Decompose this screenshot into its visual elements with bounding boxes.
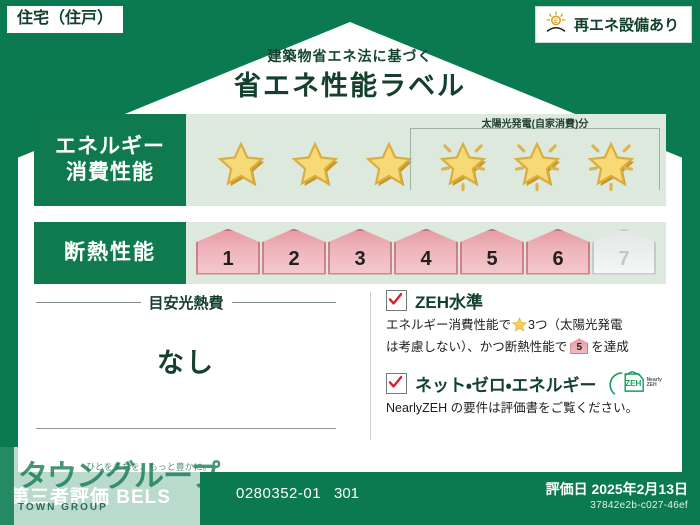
zeh-netzero-description: NearlyZEH の要件は評価書をご覧ください。: [386, 399, 672, 418]
star-icon: [207, 135, 275, 197]
solar-note-label: 太陽光発電(自家消費)分: [410, 115, 660, 130]
sun-icon: E: [544, 11, 568, 38]
insulation-grade-4: 4: [394, 229, 458, 275]
insulation-grade-3: 3: [328, 229, 392, 275]
checkbox-checked-icon: [386, 290, 407, 311]
utility-cost-heading: 目安光熱費: [36, 292, 336, 313]
zeh-desc-star-count: 3つ（太陽光発電: [528, 318, 622, 332]
insulation-grade-scale: 1234567: [186, 222, 666, 284]
zeh-logo-subtext: Nearly ZEH: [647, 378, 662, 389]
certificate-number: 0280352-01: [236, 485, 321, 502]
evaluation-id: 37842e2b-c027-46ef: [590, 500, 688, 511]
zeh-logo-sub2: ZEH: [647, 382, 657, 388]
third-party-evaluation-label: 第三者評価 BELS: [10, 482, 171, 509]
utility-cost-value: なし: [36, 341, 336, 380]
inline-grade-number: 5: [570, 338, 588, 354]
renewable-equipment-label: 再エネ設備あり: [574, 14, 679, 35]
insulation-label-text: 断熱性能: [64, 240, 156, 266]
label-title: 省エネ性能ラベル: [0, 64, 700, 103]
renewable-equipment-badge: E 再エネ設備あり: [535, 6, 692, 43]
insulation-grade-number: 6: [552, 249, 563, 273]
building-type-badge: 住宅（住戸）: [6, 5, 124, 34]
utility-cost-heading-text: 目安光熱費: [149, 292, 224, 313]
star-icon: [281, 135, 349, 197]
svg-text:ZEH: ZEH: [625, 379, 641, 388]
label-footer: 第三者評価 BELS 0280352-01 301 評価日 2025年2月13日…: [0, 472, 700, 525]
zeh-netzero-title: ネット・ゼロ・エネルギー: [415, 371, 597, 396]
evaluation-date-label: 評価日: [546, 481, 588, 497]
utility-cost-bottom-rule: [36, 428, 336, 429]
evaluation-date: 評価日 2025年2月13日: [546, 479, 688, 499]
insulation-grade-number: 2: [288, 249, 299, 273]
insulation-grade-7: 7: [592, 229, 656, 275]
insulation-grade-2: 2: [262, 229, 326, 275]
zeh-desc-part1: エネルギー消費性能で: [386, 318, 511, 332]
insulation-rating-area: 1234567: [186, 222, 666, 284]
utility-cost-block: 目安光熱費 なし: [36, 292, 336, 380]
svg-text:E: E: [554, 19, 558, 25]
building-type-label: 住宅（住戸）: [17, 10, 113, 27]
insulation-performance-label: 断熱性能: [34, 222, 186, 284]
insulation-grade-number: 5: [486, 249, 497, 273]
rule-right: [232, 302, 337, 303]
rule-left: [36, 302, 141, 303]
zeh-standard-description: エネルギー消費性能で3つ（太陽光発電は考慮しない）、かつ断熱性能で5を達成: [386, 316, 672, 358]
zeh-standard-line: ZEH水準: [386, 288, 672, 313]
insulation-grade-number: 7: [618, 249, 629, 273]
inline-star-icon: [512, 317, 527, 338]
insulation-grade-number: 1: [222, 249, 233, 273]
insulation-grade-number: 3: [354, 249, 365, 273]
energy-performance-label: エネルギー 消費性能: [34, 114, 186, 206]
zeh-netzero-line: ネット・ゼロ・エネルギー ZEH Nearly ZEH: [386, 371, 672, 396]
zeh-house-logo: ZEH Nearly ZEH: [609, 371, 662, 395]
energy-performance-label: 住宅（住戸） E 再エネ設備あり 建築物省エネ法に基づく 省エネ性能ラベル: [0, 0, 700, 525]
inline-grade-badge: 5: [570, 338, 588, 354]
insulation-grade-5: 5: [460, 229, 524, 275]
solar-bracket: [410, 128, 660, 190]
zeh-desc-part2: は考慮しない）、かつ断熱性能で: [386, 340, 567, 354]
energy-label-line1: エネルギー: [55, 134, 165, 160]
checkbox-checked-icon: [386, 373, 407, 394]
energy-rating-area: 太陽光発電(自家消費)分: [186, 114, 666, 206]
insulation-performance-row: 断熱性能 1234567: [34, 222, 666, 284]
insulation-grade-number: 4: [420, 249, 431, 273]
zeh-standard-title: ZEH水準: [415, 288, 483, 313]
insulation-grade-1: 1: [196, 229, 260, 275]
label-subtitle: 建築物省エネ法に基づく: [0, 46, 700, 66]
energy-performance-row: エネルギー 消費性能 太陽光発電(自家消費)分: [34, 114, 666, 206]
zeh-section: ZEH水準 エネルギー消費性能で3つ（太陽光発電は考慮しない）、かつ断熱性能で5…: [386, 288, 672, 418]
insulation-grade-6: 6: [526, 229, 590, 275]
energy-label-line2: 消費性能: [66, 160, 154, 186]
zeh-desc-part3: を達成: [591, 340, 629, 354]
room-number: 301: [334, 485, 359, 502]
evaluation-date-value: 2025年2月13日: [591, 481, 688, 497]
section-divider: [370, 292, 371, 440]
